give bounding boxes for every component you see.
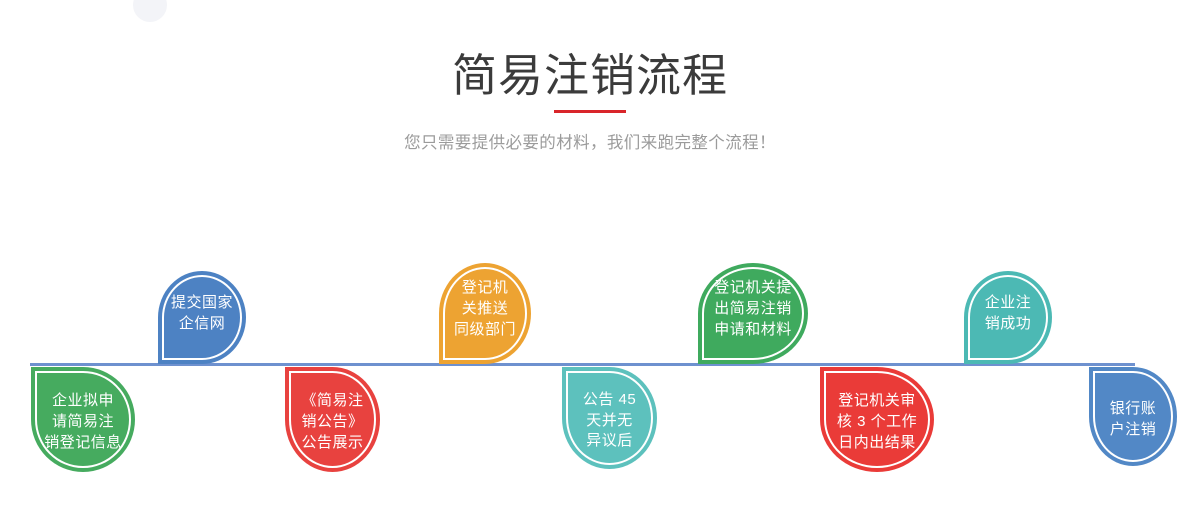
pin-label: 提交国家 企信网 (164, 293, 240, 334)
timeline-step-pin-7[interactable]: 登记机关审 核 3 个工作 日内出结果 (820, 367, 934, 472)
pin-label: 登记机关提 出简易注销 申请和材料 (707, 278, 799, 340)
pin-label: 企业注 销成功 (978, 293, 1039, 334)
pin-label: 银行账 户注销 (1103, 399, 1164, 440)
pin-label: 公告 45 天并无 异议后 (576, 390, 643, 452)
timeline-step-pin-6[interactable]: 登记机关提 出简易注销 申请和材料 (698, 263, 808, 364)
pin-label: 登记机关审 核 3 个工作 日内出结果 (830, 391, 924, 453)
timeline-step-pin-8[interactable]: 企业注 销成功 (964, 271, 1052, 364)
pin-label: 《简易注 销公告》 公告展示 (294, 391, 370, 453)
process-timeline: 企业拟申 请简易注 销登记信息提交国家 企信网《简易注 销公告》 公告展示登记机… (0, 0, 1180, 516)
pin-label: 企业拟申 请简易注 销登记信息 (37, 391, 129, 453)
timeline-step-pin-5[interactable]: 公告 45 天并无 异议后 (562, 367, 657, 469)
pin-label: 登记机 关推送 同级部门 (447, 278, 523, 340)
timeline-step-pin-9[interactable]: 银行账 户注销 (1089, 367, 1177, 466)
timeline-step-pin-1[interactable]: 企业拟申 请简易注 销登记信息 (31, 367, 135, 472)
timeline-step-pin-3[interactable]: 《简易注 销公告》 公告展示 (285, 367, 380, 472)
timeline-step-pin-2[interactable]: 提交国家 企信网 (158, 271, 246, 364)
timeline-step-pin-4[interactable]: 登记机 关推送 同级部门 (439, 263, 531, 364)
